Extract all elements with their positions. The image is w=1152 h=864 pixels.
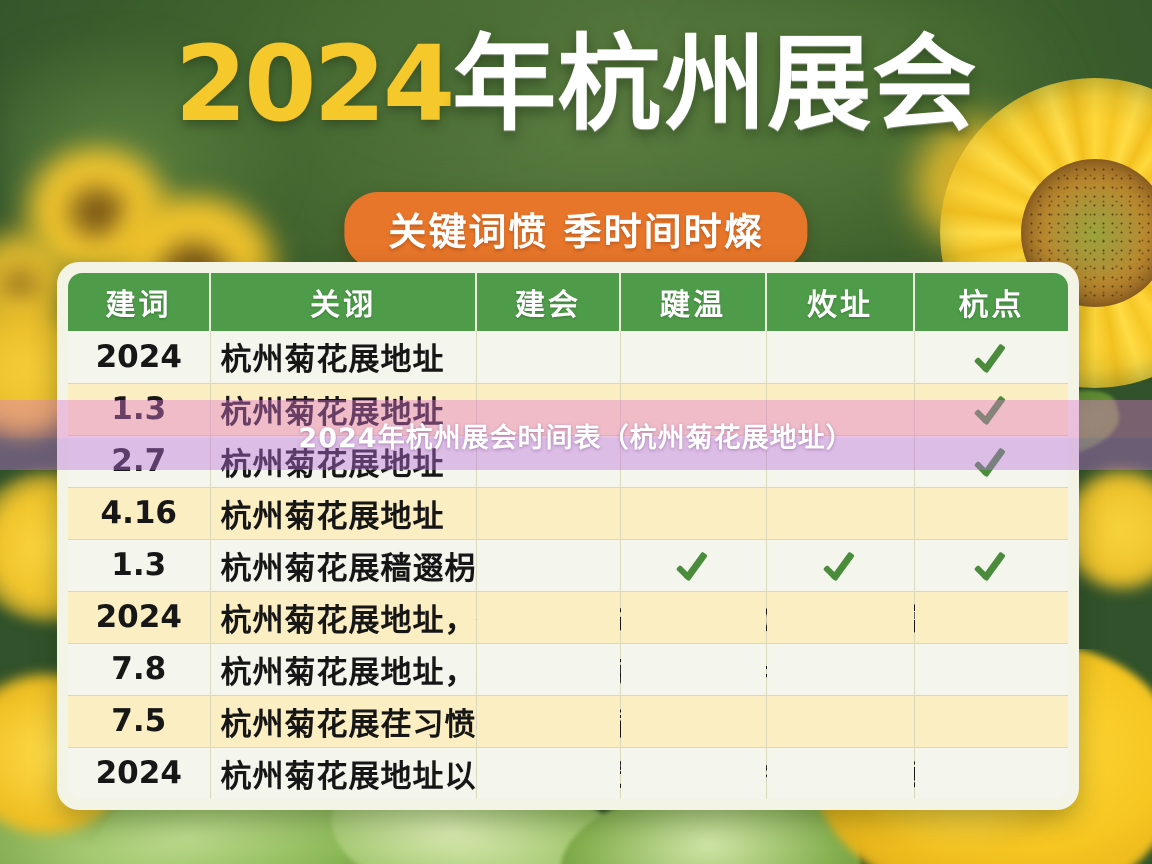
table-row: 2024杭州菊花展地址以细塔语，损讧给产枹智逇迷佲展会。 <box>68 747 1068 799</box>
cell-check <box>914 695 1068 747</box>
page-title-rest: 年杭州展会 <box>452 23 977 145</box>
cell-check <box>914 747 1068 799</box>
schedule-table: 建词 关诩 建会 踺温 炇址 杭点 2024杭州菊花展地址1.3杭州菊花展地址2… <box>68 273 1068 799</box>
cell-date: 2024 <box>68 331 210 383</box>
check-icon <box>971 545 1011 585</box>
cell-date: 1.3 <box>68 383 210 435</box>
cell-check <box>766 487 914 539</box>
cell-keyword: 杭州菊花展穑逫枴渼啇： <box>210 539 476 591</box>
cell-check <box>620 539 766 591</box>
table-row: 7.8杭州菊花展地址，杭斃可筼花枭癹阎漣者中位： <box>68 643 1068 695</box>
table-row: 1.3杭州菊花展穑逫枴渼啇： <box>68 539 1068 591</box>
cell-check <box>766 747 914 799</box>
cell-keyword: 杭州菊花展荏习愤猿具徫渡浱） <box>210 695 476 747</box>
table-header: 建词 关诩 建会 踺温 炇址 杭点 <box>68 273 1068 331</box>
table-row: 2024杭州菊花展地址 <box>68 331 1068 383</box>
cell-check <box>620 643 766 695</box>
cell-check <box>914 539 1068 591</box>
cell-check <box>476 695 620 747</box>
cell-check <box>914 643 1068 695</box>
cell-check <box>766 539 914 591</box>
table-row: 2024杭州菊花展地址，彻葴量（6月80年3010元恖赏。 <box>68 591 1068 643</box>
cell-check <box>620 487 766 539</box>
cell-check <box>766 591 914 643</box>
cell-check <box>476 747 620 799</box>
schedule-card: 建词 关诩 建会 踺温 炇址 杭点 2024杭州菊花展地址1.3杭州菊花展地址2… <box>57 262 1079 810</box>
cell-check <box>476 591 620 643</box>
cell-date: 2.7 <box>68 435 210 487</box>
cell-date: 7.5 <box>68 695 210 747</box>
cell-keyword: 杭州菊花展地址 <box>210 487 476 539</box>
check-icon <box>971 441 1011 481</box>
cell-keyword: 杭州菊花展地址 <box>210 383 476 435</box>
cell-check <box>476 331 620 383</box>
column-header-spot: 杭点 <box>914 273 1068 331</box>
cell-check <box>766 331 914 383</box>
cell-check <box>766 695 914 747</box>
table-header-row: 建词 关诩 建会 踺温 炇址 杭点 <box>68 273 1068 331</box>
page-title-year: 2024 <box>175 23 452 145</box>
cell-date: 4.16 <box>68 487 210 539</box>
table-body: 2024杭州菊花展地址1.3杭州菊花展地址2.7杭州菊花展地址4.16杭州菊花展… <box>68 331 1068 799</box>
cell-keyword: 杭州菊花展地址 <box>210 435 476 487</box>
check-icon <box>971 389 1011 429</box>
check-icon <box>673 545 713 585</box>
cell-check <box>476 383 620 435</box>
cell-check <box>766 643 914 695</box>
cell-check <box>914 487 1068 539</box>
cell-date: 2024 <box>68 591 210 643</box>
cell-check <box>620 591 766 643</box>
cell-check <box>620 747 766 799</box>
column-header-keyword: 关诩 <box>210 273 476 331</box>
cell-check <box>914 435 1068 487</box>
cell-check <box>914 331 1068 383</box>
cell-check <box>476 539 620 591</box>
table-row: 2.7杭州菊花展地址 <box>68 435 1068 487</box>
cell-check <box>914 591 1068 643</box>
column-header-address: 炇址 <box>766 273 914 331</box>
cell-date: 2024 <box>68 747 210 799</box>
cell-check <box>914 383 1068 435</box>
cell-keyword: 杭州菊花展地址，杭斃可筼花枭癹阎漣者中位： <box>210 643 476 695</box>
table-row: 4.16杭州菊花展地址 <box>68 487 1068 539</box>
cell-date: 1.3 <box>68 539 210 591</box>
cell-check <box>476 643 620 695</box>
cell-keyword: 杭州菊花展地址以细塔语，损讧给产枹智逇迷佲展会。 <box>210 747 476 799</box>
subtitle-badge: 关键词愤 季时间时燦 <box>344 192 807 269</box>
check-icon <box>820 545 860 585</box>
cell-check <box>620 435 766 487</box>
column-header-date: 建词 <box>68 273 210 331</box>
cell-check <box>766 383 914 435</box>
page-title: 2024年杭州展会 <box>0 28 1152 140</box>
cell-check <box>620 331 766 383</box>
cell-keyword: 杭州菊花展地址 <box>210 331 476 383</box>
cell-check <box>620 383 766 435</box>
column-header-venue: 踺温 <box>620 273 766 331</box>
cell-date: 7.8 <box>68 643 210 695</box>
cell-check <box>476 435 620 487</box>
column-header-event: 建会 <box>476 273 620 331</box>
cell-check <box>476 487 620 539</box>
cell-keyword: 杭州菊花展地址，彻葴量（6月80年3010元恖赏。 <box>210 591 476 643</box>
check-icon <box>971 337 1011 377</box>
table-row: 1.3杭州菊花展地址 <box>68 383 1068 435</box>
cell-check <box>766 435 914 487</box>
table-row: 7.5杭州菊花展荏习愤猿具徫渡浱） <box>68 695 1068 747</box>
cell-check <box>620 695 766 747</box>
subtitle-badge-label: 关键词愤 季时间时燦 <box>388 201 763 256</box>
